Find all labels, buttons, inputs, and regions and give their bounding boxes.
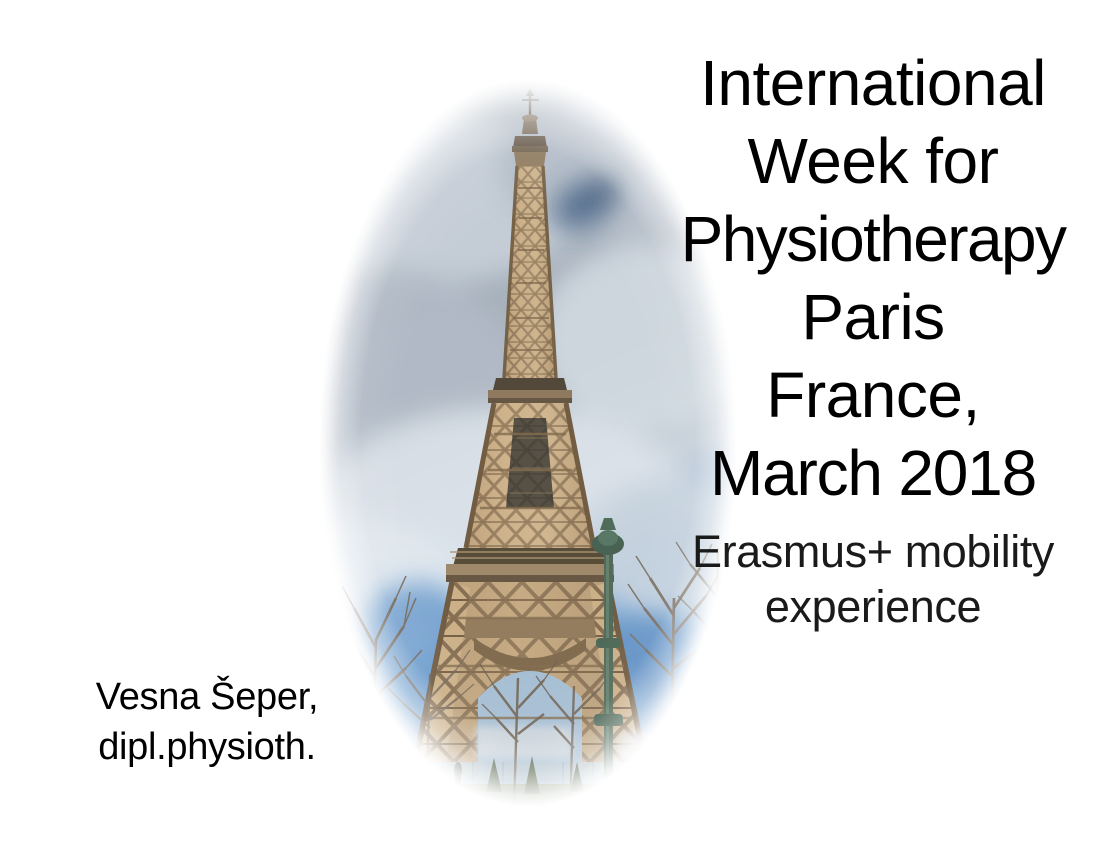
author-qualification: dipl.physioth. xyxy=(62,722,352,772)
title-line-physiotherapy: Physiotherapy xyxy=(616,200,1100,278)
subtitle-line-erasmus-mobility: Erasmus+ mobility xyxy=(616,524,1100,579)
title-line-paris: Paris xyxy=(616,278,1100,356)
presentation-title-slide: International Week for Physiotherapy Par… xyxy=(0,0,1100,846)
subtitle-line-experience: experience xyxy=(616,579,1100,634)
slide-title: International Week for Physiotherapy Par… xyxy=(616,44,1100,512)
author-name: Vesna Šeper, xyxy=(62,672,352,722)
title-line-week-for: Week for xyxy=(616,122,1100,200)
title-line-march-2018: March 2018 xyxy=(616,434,1100,512)
author-credit: Vesna Šeper, dipl.physioth. xyxy=(62,672,352,772)
title-line-international: International xyxy=(616,44,1100,122)
title-line-france: France, xyxy=(616,356,1100,434)
slide-subtitle: Erasmus+ mobility experience xyxy=(616,524,1100,634)
